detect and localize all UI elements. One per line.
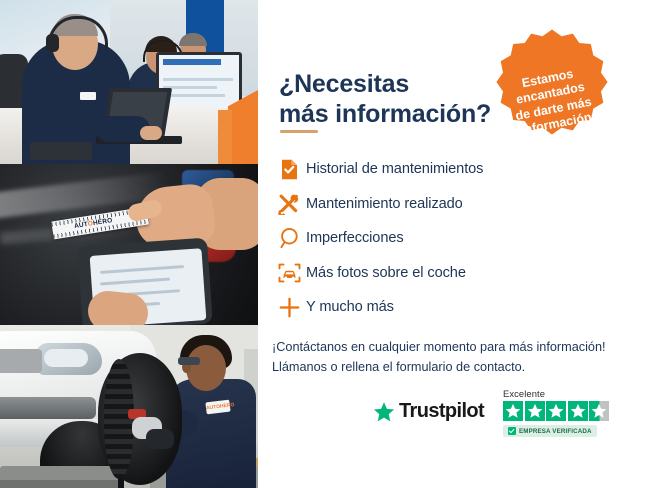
tools-icon — [272, 193, 306, 215]
verified-check-icon — [508, 427, 516, 435]
desk-tablet — [30, 142, 92, 160]
rating-label: Excelente — [503, 388, 623, 399]
maintenance-history-icon — [272, 158, 306, 181]
star-filled — [503, 401, 523, 421]
contact-text: ¡Contáctanos en cualquier momento para m… — [272, 337, 632, 378]
trustpilot-wordmark: Trustpilot — [399, 400, 484, 423]
plus-icon — [272, 297, 306, 318]
monitor-screen-row — [163, 78, 233, 81]
trustpilot-widget[interactable]: Trustpilot Excelente — [373, 388, 633, 450]
car-scan-icon — [272, 262, 306, 284]
agent-1-hand — [140, 126, 162, 140]
mechanic-wheel-photo: AUTOHERO — [0, 325, 258, 488]
car-lift-base — [0, 480, 118, 488]
trustpilot-star-icon — [373, 401, 395, 423]
star-filled — [525, 401, 545, 421]
page-title-line-1: ¿Necesitas — [279, 70, 409, 98]
list-item-label: Mantenimiento realizado — [306, 196, 463, 212]
headset-icon — [478, 25, 503, 49]
magnifier-icon — [272, 227, 306, 249]
star-rating — [503, 401, 623, 421]
verified-business-badge: EMPRESA VERIFICADA — [503, 425, 597, 437]
agent-1-name-badge — [80, 92, 96, 100]
list-item: Mantenimiento realizado — [272, 188, 572, 220]
trustpilot-rating: Excelente — [503, 388, 623, 440]
agent-1-headset-earcup — [46, 34, 59, 52]
headlight-inner — [44, 349, 88, 367]
photo-column: AUTOHERO — [0, 0, 258, 488]
list-item: Y mucho más — [272, 291, 572, 323]
list-item-label: Y mucho más — [306, 299, 394, 315]
verified-label: EMPRESA VERIFICADA — [519, 428, 592, 435]
car-inspection-ruler-photo: AUTOHERO — [0, 164, 258, 325]
list-item-label: Historial de mantenimientos — [306, 161, 483, 177]
monitor-screen-header — [163, 59, 221, 65]
mechanic-glove-right — [146, 429, 174, 449]
orange-accent — [218, 110, 232, 164]
upper-grille — [0, 349, 42, 373]
list-item-label: Más fotos sobre el coche — [306, 265, 466, 281]
information-banner: AUTOHERO — [0, 0, 650, 488]
list-item: Imperfecciones — [272, 222, 572, 254]
wheel-tread — [104, 359, 134, 479]
star-filled — [546, 401, 566, 421]
call-center-agents-photo — [0, 0, 258, 164]
mechanic-head — [186, 345, 226, 391]
contact-line-2: Llámanos o rellena el formulario de cont… — [272, 357, 632, 378]
list-item: Más fotos sobre el coche — [272, 257, 572, 289]
feature-list: Historial de mantenimientos Mantenimient… — [272, 153, 572, 326]
trustpilot-logo[interactable]: Trustpilot — [373, 400, 484, 423]
title-underline — [280, 130, 318, 133]
safety-glasses — [178, 357, 200, 365]
list-item-label: Imperfecciones — [306, 230, 404, 246]
monitor-screen-row — [163, 94, 225, 97]
lower-grille — [0, 397, 96, 419]
list-item: Historial de mantenimientos — [272, 153, 572, 185]
star-filled — [568, 401, 588, 421]
contact-line-1: ¡Contáctanos en cualquier momento para m… — [272, 337, 632, 358]
star-half — [589, 401, 609, 421]
content-panel: ¿Necesitas más información? Estamos enca… — [258, 0, 650, 488]
support-badge: Estamos encantados de darte más informac… — [491, 27, 613, 149]
